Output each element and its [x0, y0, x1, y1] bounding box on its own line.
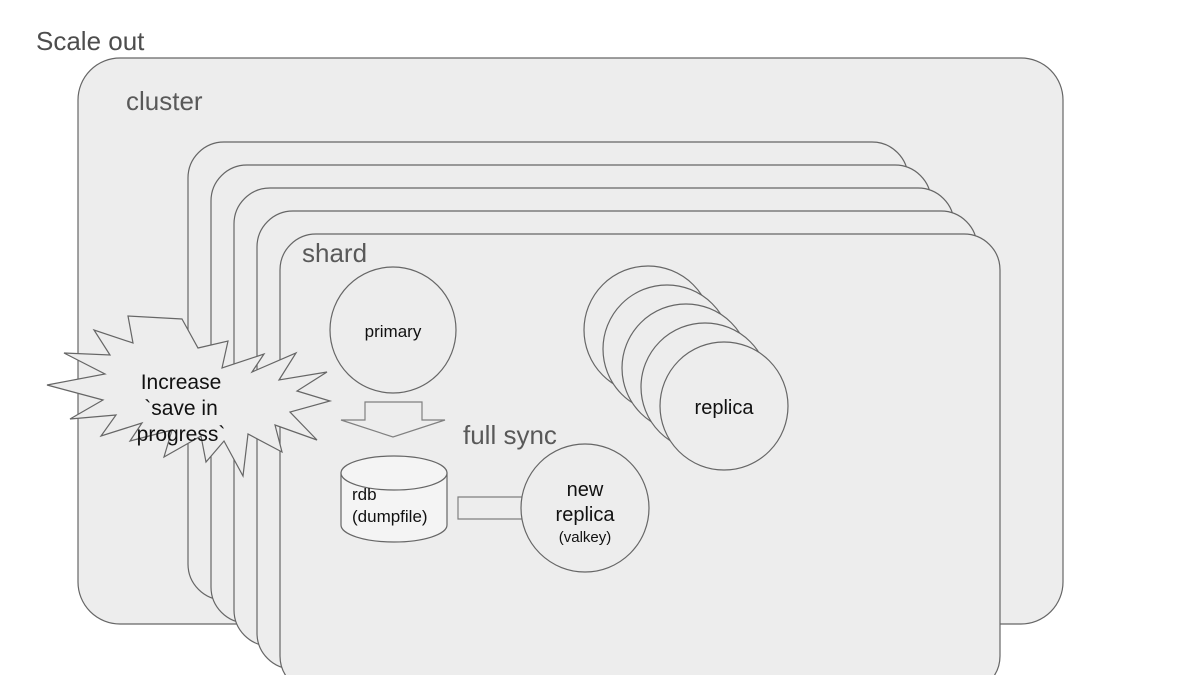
- new-replica-label-line2: replica: [556, 504, 616, 526]
- new-replica-label-line1: new: [567, 479, 604, 501]
- callout-line3: progress`: [137, 423, 226, 446]
- diagram-canvas: cluster shard primary replica full sync …: [0, 0, 1200, 675]
- rdb-label-line2: (dumpfile): [352, 507, 428, 526]
- callout-line2: `save in: [144, 397, 218, 420]
- new-replica-label-line3: (valkey): [559, 529, 612, 546]
- primary-label: primary: [365, 322, 422, 341]
- shard-label: shard: [302, 238, 367, 268]
- page-title: Scale out: [36, 26, 145, 56]
- callout-line1: Increase: [141, 371, 222, 394]
- rdb-label-line1: rdb: [352, 485, 377, 504]
- full-sync-label: full sync: [463, 420, 557, 450]
- cluster-label: cluster: [126, 86, 203, 116]
- replica-label: replica: [695, 397, 755, 419]
- diagram-root: cluster shard primary replica full sync …: [0, 0, 1200, 675]
